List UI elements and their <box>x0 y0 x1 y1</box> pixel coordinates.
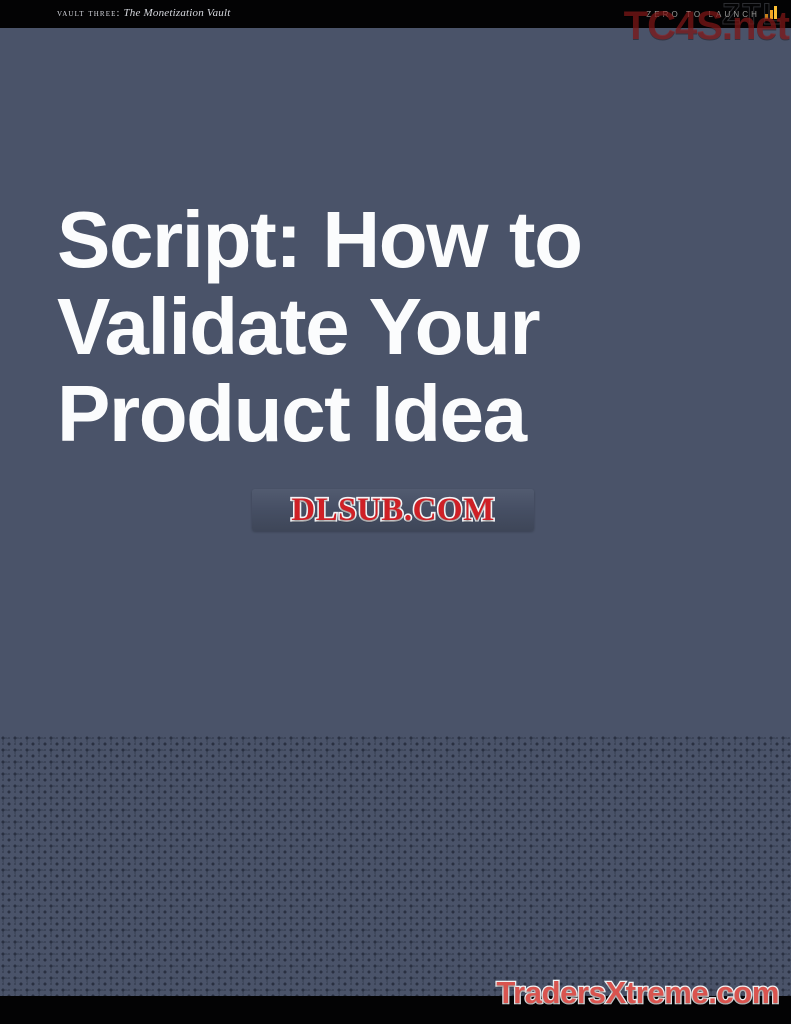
brand-logo-inner: Zero To Launch <box>646 8 777 21</box>
cross-dot-pattern <box>0 735 791 1024</box>
document-page: Vault Three: The Monetization Vault ZTL … <box>0 0 791 1024</box>
cross-dot-pattern-overlay <box>0 735 791 1024</box>
breadcrumb: Vault Three: The Monetization Vault <box>57 7 231 19</box>
bar-chart-icon <box>765 8 777 21</box>
vault-subject: The Monetization Vault <box>123 7 230 19</box>
vault-kicker: Vault Three: <box>57 8 120 19</box>
title-block: Script: How to Validate Your Product Ide… <box>57 196 717 457</box>
dlsub-badge-label: DLSUB.COM <box>291 494 494 527</box>
brand-wordmark: Zero To Launch <box>646 10 760 21</box>
dlsub-badge: DLSUB.COM <box>252 489 534 531</box>
page-title: Script: How to Validate Your Product Ide… <box>57 196 687 457</box>
bottom-bar <box>0 996 791 1024</box>
top-bar: Vault Three: The Monetization Vault ZTL … <box>0 0 791 28</box>
brand-logo: Zero To Launch <box>646 1 777 27</box>
